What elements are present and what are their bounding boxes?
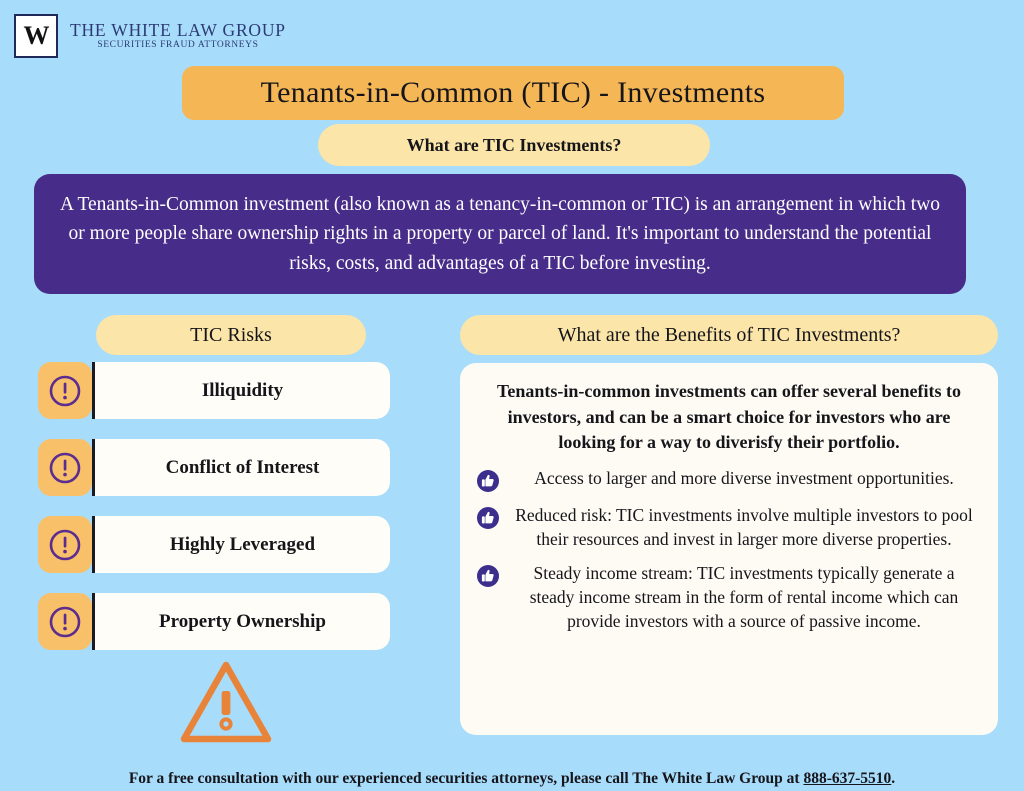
risk-label: Conflict of Interest: [166, 457, 320, 479]
definition-text: A Tenants-in-Common investment (also kno…: [56, 190, 944, 278]
risk-label: Property Ownership: [159, 611, 326, 633]
brand-text: THE WHITE LAW GROUP SECURITIES FRAUD ATT…: [70, 21, 286, 50]
risks-section-heading: TIC Risks: [96, 315, 366, 355]
brand-name: THE WHITE LAW GROUP: [70, 21, 286, 39]
logo-box: W: [14, 14, 58, 58]
page-subtitle-text: What are TIC Investments?: [407, 135, 622, 156]
footer: For a free consultation with our experie…: [0, 770, 1024, 788]
logo-monogram: W: [24, 23, 49, 49]
risk-item[interactable]: Highly Leveraged: [38, 516, 390, 573]
risks-section-heading-text: TIC Risks: [190, 324, 272, 347]
benefit-item: Reduced risk: TIC investments involve mu…: [476, 503, 982, 551]
footer-text: For a free consultation with our experie…: [129, 770, 804, 787]
benefits-section-heading-text: What are the Benefits of TIC Investments…: [558, 324, 901, 347]
exclamation-circle-icon: [38, 439, 92, 496]
benefit-text: Access to larger and more diverse invest…: [510, 466, 978, 490]
benefits-intro-text: Tenants-in-common investments can offer …: [476, 379, 982, 456]
exclamation-circle-icon: [38, 516, 92, 573]
benefit-item: Access to larger and more diverse invest…: [476, 466, 982, 493]
footer-phone-link[interactable]: 888-637-5510: [803, 770, 891, 787]
thumbs-up-icon: [476, 564, 500, 588]
page-title: Tenants-in-Common (TIC) - Investments: [182, 66, 844, 120]
risk-divider: [92, 439, 95, 496]
risk-item[interactable]: Conflict of Interest: [38, 439, 390, 496]
risk-label: Illiquidity: [202, 380, 283, 402]
risk-item[interactable]: Property Ownership: [38, 593, 390, 650]
benefits-panel: Tenants-in-common investments can offer …: [460, 363, 998, 735]
risk-divider: [92, 516, 95, 573]
thumbs-up-icon: [476, 469, 500, 493]
risk-card: Highly Leveraged: [95, 516, 390, 573]
brand-tagline: SECURITIES FRAUD ATTORNEYS: [97, 41, 258, 51]
thumbs-up-icon: [476, 506, 500, 530]
risk-card: Property Ownership: [95, 593, 390, 650]
exclamation-circle-icon: [38, 593, 92, 650]
footer-period: .: [891, 770, 895, 787]
risk-divider: [92, 362, 95, 419]
risk-item[interactable]: Illiquidity: [38, 362, 390, 419]
benefit-text: Reduced risk: TIC investments involve mu…: [510, 503, 978, 551]
risk-label: Highly Leveraged: [170, 534, 315, 556]
risk-list: Illiquidity Conflict of Interest Highly …: [38, 362, 390, 670]
risk-card: Conflict of Interest: [95, 439, 390, 496]
risk-card: Illiquidity: [95, 362, 390, 419]
definition-panel: A Tenants-in-Common investment (also kno…: [34, 174, 966, 294]
page-title-text: Tenants-in-Common (TIC) - Investments: [261, 76, 766, 110]
brand-logo: W THE WHITE LAW GROUP SECURITIES FRAUD A…: [14, 14, 286, 58]
exclamation-circle-icon: [38, 362, 92, 419]
page-subtitle: What are TIC Investments?: [318, 124, 710, 166]
warning-triangle-icon: [178, 655, 274, 751]
benefit-item: Steady income stream: TIC investments ty…: [476, 561, 982, 633]
risk-divider: [92, 593, 95, 650]
benefit-text: Steady income stream: TIC investments ty…: [510, 561, 978, 633]
benefits-section-heading: What are the Benefits of TIC Investments…: [460, 315, 998, 355]
